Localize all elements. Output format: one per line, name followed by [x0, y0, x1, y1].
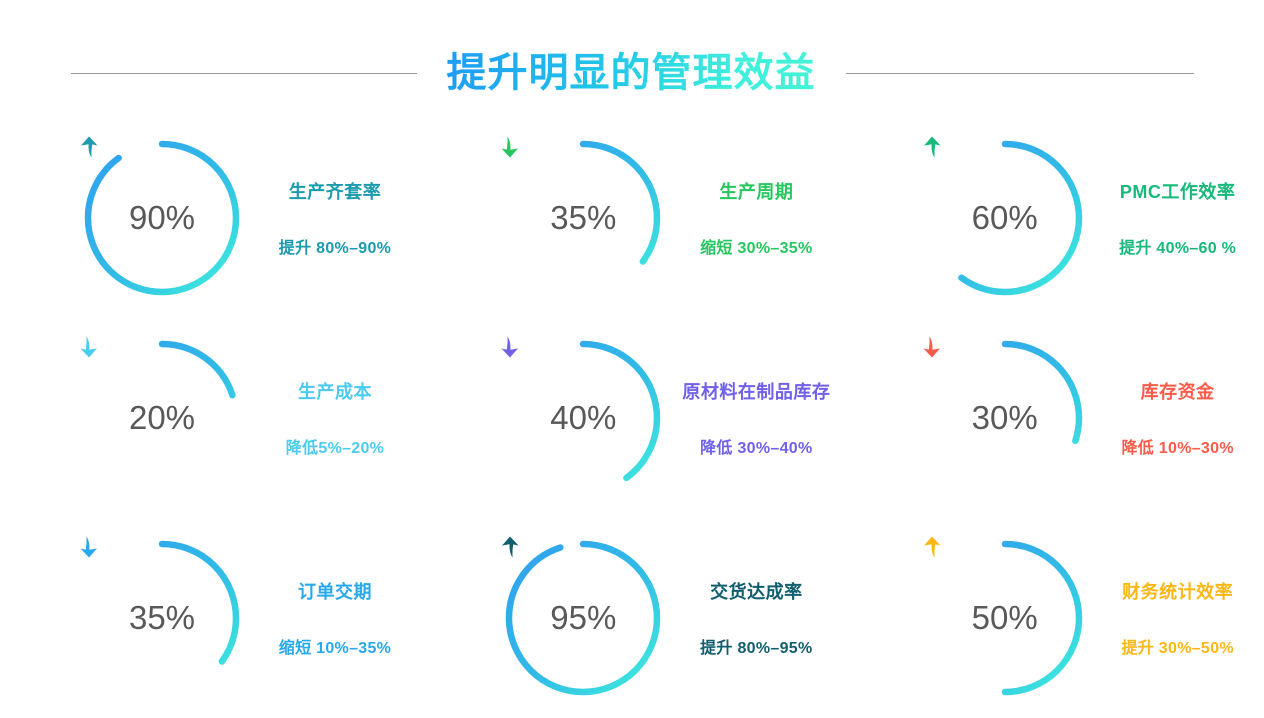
gauge-value: 60% — [972, 201, 1038, 234]
gauge-ring: 35% — [78, 534, 246, 702]
metric-delta: 提升 30%–50% — [1121, 634, 1233, 658]
gauge-center: 35% — [78, 534, 246, 702]
metrics-grid: 90%生产齐套率提升 80%–90%35%生产周期缩短 30%–35%60%PM… — [0, 118, 1264, 718]
gauge-ring: 60% — [921, 134, 1089, 302]
metric-name: 生产齐套率 — [289, 178, 382, 204]
metric-name: 原材料在制品库存 — [682, 378, 830, 404]
metric-card: 35%生产周期缩短 30%–35% — [421, 118, 842, 318]
metric-card: 20%生产成本降低5%–20% — [0, 318, 421, 518]
metric-name: 订单交期 — [298, 578, 372, 604]
metric-card: 35%订单交期缩短 10%–35% — [0, 518, 421, 718]
gauge-value: 35% — [129, 601, 195, 634]
metric-text: 生产周期缩短 30%–35% — [681, 178, 831, 258]
metric-text: PMC工作效率提升 40%–60 % — [1103, 178, 1253, 258]
metric-delta: 缩短 30%–35% — [700, 234, 812, 258]
metric-delta: 提升 80%–90% — [279, 234, 391, 258]
metric-delta: 降低5%–20% — [286, 434, 384, 458]
metric-text: 交货达成率提升 80%–95% — [681, 578, 831, 658]
metric-text: 生产齐套率提升 80%–90% — [260, 178, 410, 258]
gauge-ring: 50% — [921, 534, 1089, 702]
gauge-ring: 95% — [499, 534, 667, 702]
metric-card: 50%财务统计效率提升 30%–50% — [843, 518, 1264, 718]
page-header: 提升明显的管理效益 — [0, 42, 1264, 104]
metric-name: 生产成本 — [298, 378, 372, 404]
gauge-center: 35% — [499, 134, 667, 302]
gauge-center: 20% — [78, 334, 246, 502]
metric-card: 30%库存资金降低 10%–30% — [843, 318, 1264, 518]
metric-card: 95%交货达成率提升 80%–95% — [421, 518, 842, 718]
header-rule-right — [846, 73, 1194, 74]
metric-name: 交货达成率 — [710, 578, 803, 604]
gauge-value: 50% — [972, 601, 1038, 634]
metric-card: 90%生产齐套率提升 80%–90% — [0, 118, 421, 318]
metric-name: 生产周期 — [719, 178, 793, 204]
gauge-value: 35% — [550, 201, 616, 234]
gauge-value: 40% — [550, 401, 616, 434]
metric-card: 40%原材料在制品库存降低 30%–40% — [421, 318, 842, 518]
gauge-value: 20% — [129, 401, 195, 434]
gauge-center: 60% — [921, 134, 1089, 302]
gauge-value: 30% — [972, 401, 1038, 434]
gauge-ring: 90% — [78, 134, 246, 302]
gauge-center: 95% — [499, 534, 667, 702]
page-title: 提升明显的管理效益 — [445, 50, 818, 96]
metric-card: 60%PMC工作效率提升 40%–60 % — [843, 118, 1264, 318]
metric-text: 原材料在制品库存降低 30%–40% — [681, 378, 831, 458]
metric-name: PMC工作效率 — [1120, 178, 1236, 204]
header-rule-left — [71, 73, 417, 74]
metric-delta: 提升 40%–60 % — [1119, 234, 1236, 258]
metric-delta: 缩短 10%–35% — [279, 634, 391, 658]
metric-name: 库存资金 — [1141, 378, 1215, 404]
gauge-center: 40% — [499, 334, 667, 502]
gauge-value: 95% — [550, 601, 616, 634]
gauge-ring: 35% — [499, 134, 667, 302]
gauge-ring: 30% — [921, 334, 1089, 502]
gauge-center: 50% — [921, 534, 1089, 702]
metric-name: 财务统计效率 — [1122, 578, 1233, 604]
gauge-center: 90% — [78, 134, 246, 302]
metric-text: 库存资金降低 10%–30% — [1103, 378, 1253, 458]
metric-delta: 降低 30%–40% — [700, 434, 812, 458]
gauge-value: 90% — [129, 201, 195, 234]
metric-text: 生产成本降低5%–20% — [260, 378, 410, 458]
gauge-ring: 20% — [78, 334, 246, 502]
metric-text: 订单交期缩短 10%–35% — [260, 578, 410, 658]
metric-delta: 降低 10%–30% — [1121, 434, 1233, 458]
gauge-center: 30% — [921, 334, 1089, 502]
metric-delta: 提升 80%–95% — [700, 634, 812, 658]
metric-text: 财务统计效率提升 30%–50% — [1103, 578, 1253, 658]
gauge-ring: 40% — [499, 334, 667, 502]
